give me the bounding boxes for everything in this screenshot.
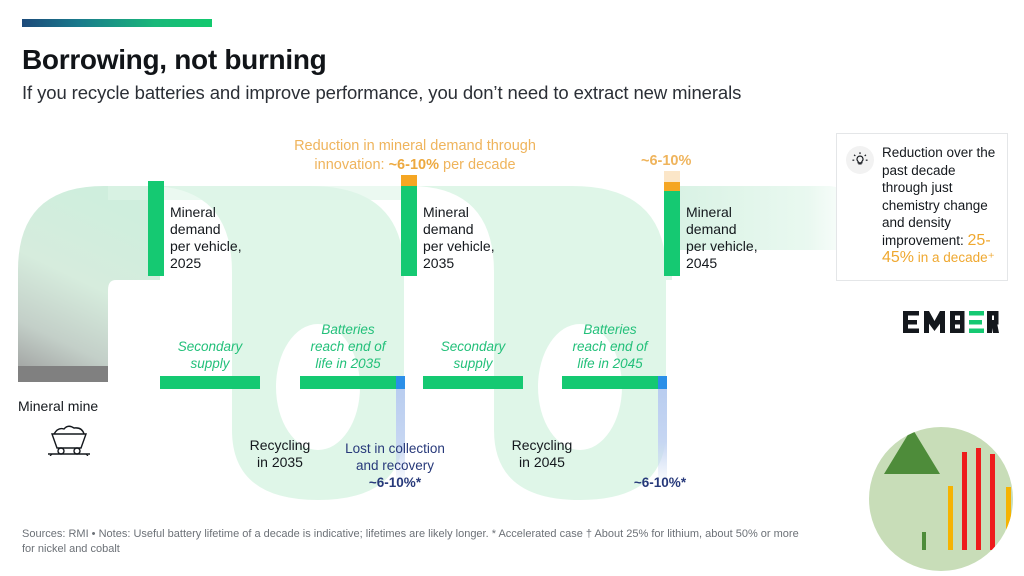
graphic-bar-2 [962,452,967,550]
end-of-life-bar-2035-blue [396,376,405,389]
loss-percent-2035: ~6-10%* [369,475,421,490]
bar-2025-label: Mineral demand per vehicle, 2025 [170,204,242,272]
callout-highlight-rest: in a decade⁺ [914,250,995,265]
end-of-life-bar-2035-green [300,376,396,389]
bar-2045-label-l3: per vehicle, [686,238,758,254]
bar-2045-label-l2: demand [686,221,737,237]
graphic-bar-5 [1006,487,1011,550]
secondary-supply-label-2045: Secondary supply [423,338,523,372]
end-of-life-bar-2045-blue [658,376,667,389]
footer-line1: Sources: RMI • Notes: Useful battery lif… [22,528,664,540]
innovation-line2-post: per decade [439,157,516,173]
mine-column [18,366,108,382]
bar-2045-label-l1: Mineral [686,204,732,220]
bar-2025-label-l2: demand [170,221,221,237]
mine-to-2025-ribbon [18,186,160,382]
end-of-life-bar-2045-green [562,376,658,389]
bar-2025-segment-green [148,181,164,276]
bar-2035-segment-orange [401,175,417,186]
end-of-life-label-2035: Batteries reach end of life in 2035 [300,321,396,372]
bar-2025 [148,181,164,276]
mine-cart-icon [42,422,96,461]
secondary-supply-label-2035: Secondary supply [160,338,260,372]
recycling-label-2035: Recycling in 2035 [230,437,330,471]
bar-2025-label-l3: per vehicle, [170,238,242,254]
secondary-supply-bar-2035 [160,376,260,389]
bar-2035-label-l3: per vehicle, [423,238,495,254]
ember-logo-green-e [969,311,984,316]
bar-2035 [401,175,417,276]
end-of-life-bar-2045 [562,376,667,389]
graphic-bar-4 [990,454,995,550]
bar-2035-label-l1: Mineral [423,204,469,220]
end-of-life-label-2045: Batteries reach end of life in 2045 [562,321,658,372]
bar-2035-label-l2: demand [423,221,474,237]
secondary-supply-bar-2045-green [423,376,523,389]
third-bar-percent: ~6-10% [641,153,691,169]
bar-2035-segment-green [401,186,417,276]
bar-2025-label-l1: Mineral [170,204,216,220]
loss-percent-2045: ~6-10%* [605,474,715,491]
callout-box: Reduction over the past decade through j… [836,133,1008,281]
loss-dropline-2045 [658,389,667,485]
bar-2045-label-l4: 2045 [686,255,717,271]
ember-logo [903,309,999,340]
lightbulb-icon [846,146,874,174]
bar-2045-segment-green [664,191,680,276]
graphic-bar-1 [948,486,953,550]
bar-2045 [664,171,680,276]
bar-2045-segment-pale [664,171,680,182]
loss-label-2035: Lost in collection and recovery ~6-10%* [325,440,465,491]
bar-2025-label-l4: 2025 [170,255,201,271]
footer-sources: Sources: RMI • Notes: Useful battery lif… [22,527,812,557]
bar-2045-label: Mineral demand per vehicle, 2045 [686,204,758,272]
callout-text: Reduction over the past decade through j… [882,144,997,267]
graphic-bar-3 [976,448,981,550]
secondary-supply-bar-2035-green [160,376,260,389]
innovation-line2-pre: innovation: [314,157,388,173]
innovation-annotation: Reduction in mineral demand through inno… [268,137,562,175]
secondary-supply-bar-2045 [423,376,523,389]
bar-2035-label-l4: 2035 [423,255,454,271]
bar-2045-segment-orange [664,182,680,191]
recycling-label-2045: Recycling in 2045 [492,437,592,471]
bottom-right-graphic [866,424,1016,574]
end-of-life-bar-2035 [300,376,405,389]
mine-label: Mineral mine [18,398,98,414]
bar-2035-label: Mineral demand per vehicle, 2035 [423,204,495,272]
infographic-page: Borrowing, not burning If you recycle ba… [0,0,1024,576]
innovation-percent: ~6-10% [389,157,439,173]
innovation-line1: Reduction in mineral demand through [294,138,536,154]
